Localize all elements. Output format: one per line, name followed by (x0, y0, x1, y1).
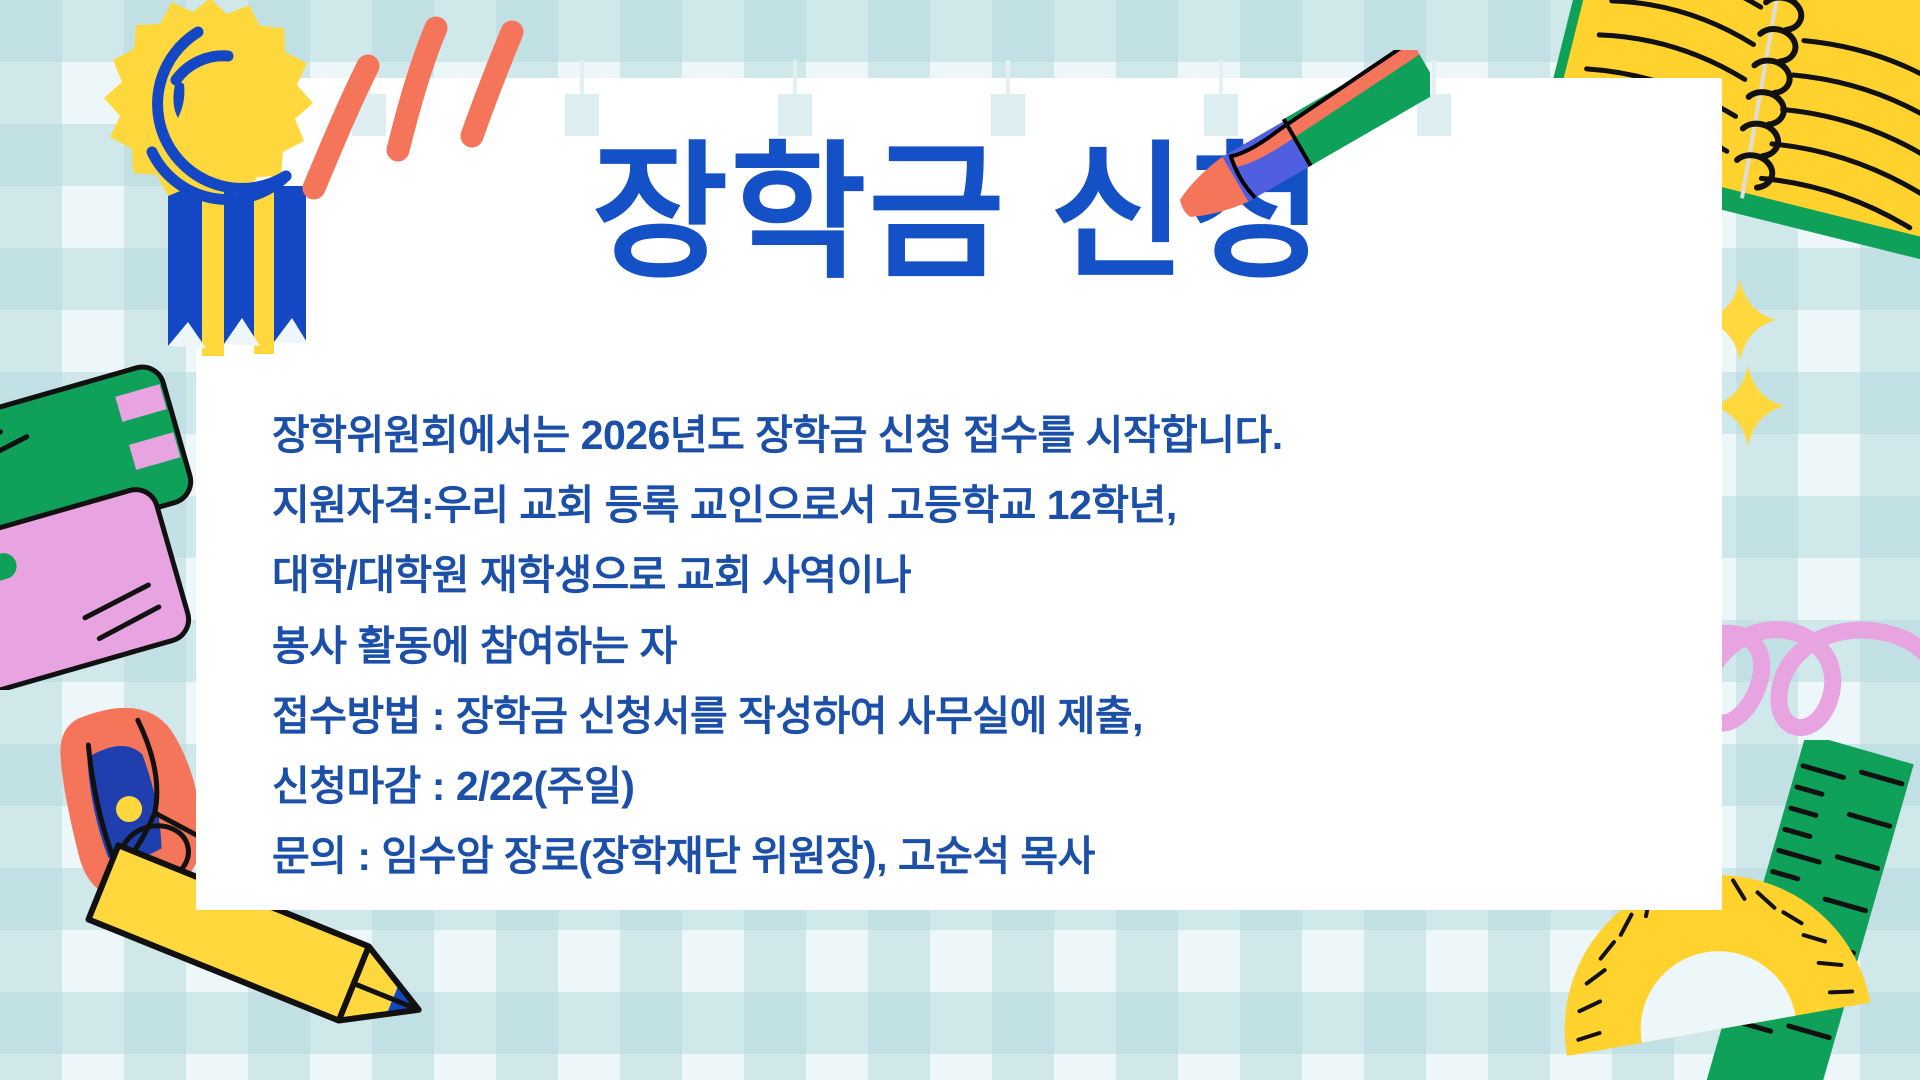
body-line: 장학위원회에서는 2026년도 장학금 신청 접수를 시작합니다. (272, 406, 1692, 464)
body-line: 접수방법 : 장학금 신청서를 작성하여 사무실에 제출, (272, 687, 1692, 745)
body-line: 지원자격:우리 교회 등록 교인으로서 고등학교 12학년, (272, 476, 1692, 534)
hanging-tab-icon (778, 94, 812, 136)
body-line: 대학/대학원 재학생으로 교회 사역이나 (272, 546, 1692, 604)
pen-icon (1150, 50, 1430, 250)
hanging-tab-icon (565, 94, 599, 136)
announcement-body: 장학위원회에서는 2026년도 장학금 신청 접수를 시작합니다. 지원자격:우… (272, 406, 1692, 898)
hanging-tab-icon (991, 94, 1025, 136)
poster-canvas: 장학금 신청 장학위원회에서는 2026년도 장학금 신청 접수를 시작합니다.… (0, 0, 1920, 1080)
body-line: 문의 : 임수암 장로(장학재단 위원장), 고순석 목사 (272, 827, 1692, 885)
body-line: 봉사 활동에 참여하는 자 (272, 617, 1692, 675)
orange-burst-icon (290, 10, 550, 210)
body-line: 신청마감 : 2/22(주일) (272, 757, 1692, 815)
